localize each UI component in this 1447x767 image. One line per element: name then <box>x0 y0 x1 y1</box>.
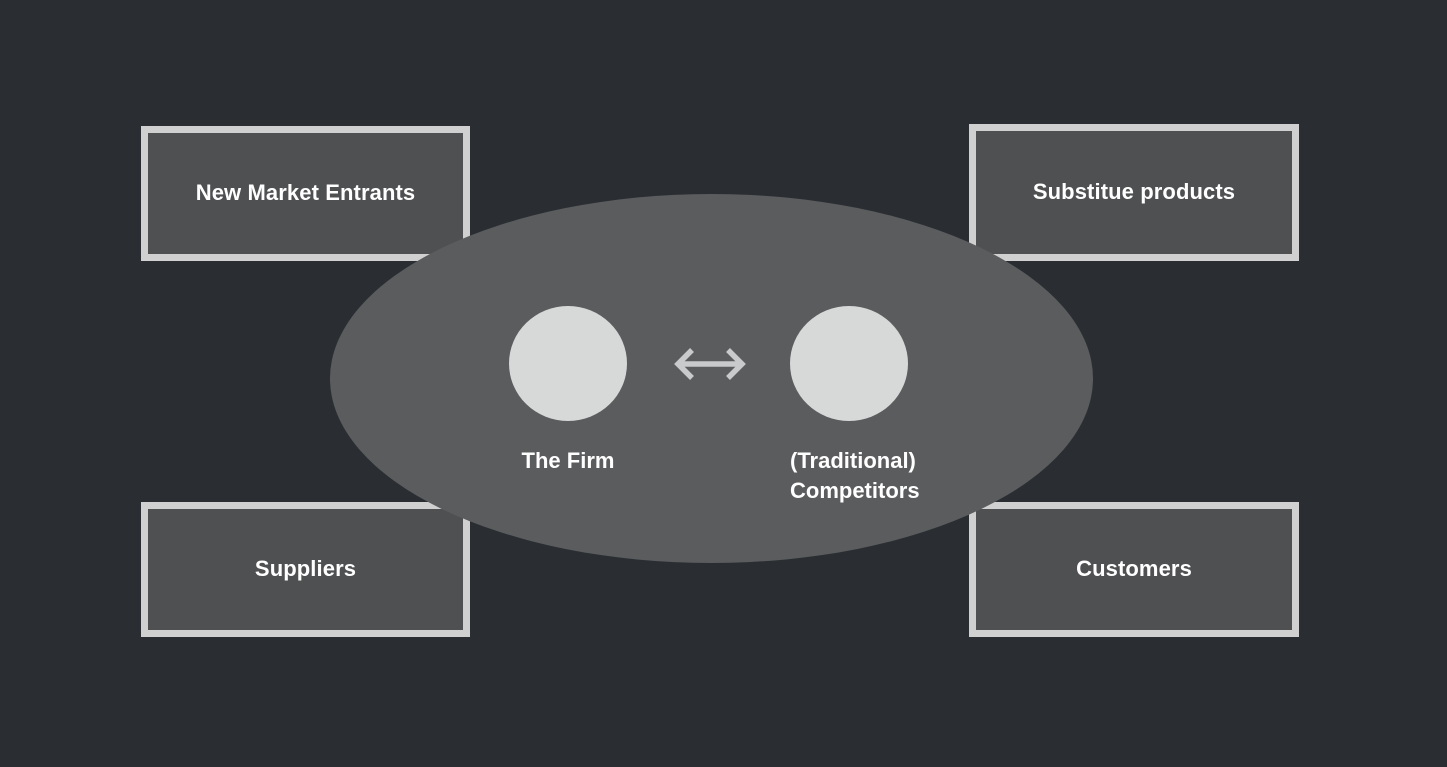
force-label-substitute-products: Substitue products <box>1033 179 1235 205</box>
diagram-canvas: New Market Entrants Substitue products S… <box>0 0 1447 767</box>
double-headed-arrow-icon <box>668 341 752 387</box>
force-box-new-market-entrants[interactable]: New Market Entrants <box>141 126 470 261</box>
force-box-customers[interactable]: Customers <box>969 502 1299 637</box>
force-label-customers: Customers <box>1076 556 1192 582</box>
traditional-competitors-circle <box>790 306 908 421</box>
force-label-suppliers: Suppliers <box>255 556 356 582</box>
the-firm-circle <box>509 306 627 421</box>
force-box-suppliers[interactable]: Suppliers <box>141 502 470 637</box>
actor-label-traditional-competitors: (Traditional) Competitors <box>790 446 970 505</box>
force-box-substitute-products[interactable]: Substitue products <box>969 124 1299 261</box>
actor-traditional-competitors[interactable]: (Traditional) Competitors <box>790 306 970 505</box>
actor-label-the-firm: The Firm <box>509 446 627 476</box>
force-label-new-market-entrants: New Market Entrants <box>196 180 416 206</box>
actor-the-firm[interactable]: The Firm <box>509 306 627 476</box>
